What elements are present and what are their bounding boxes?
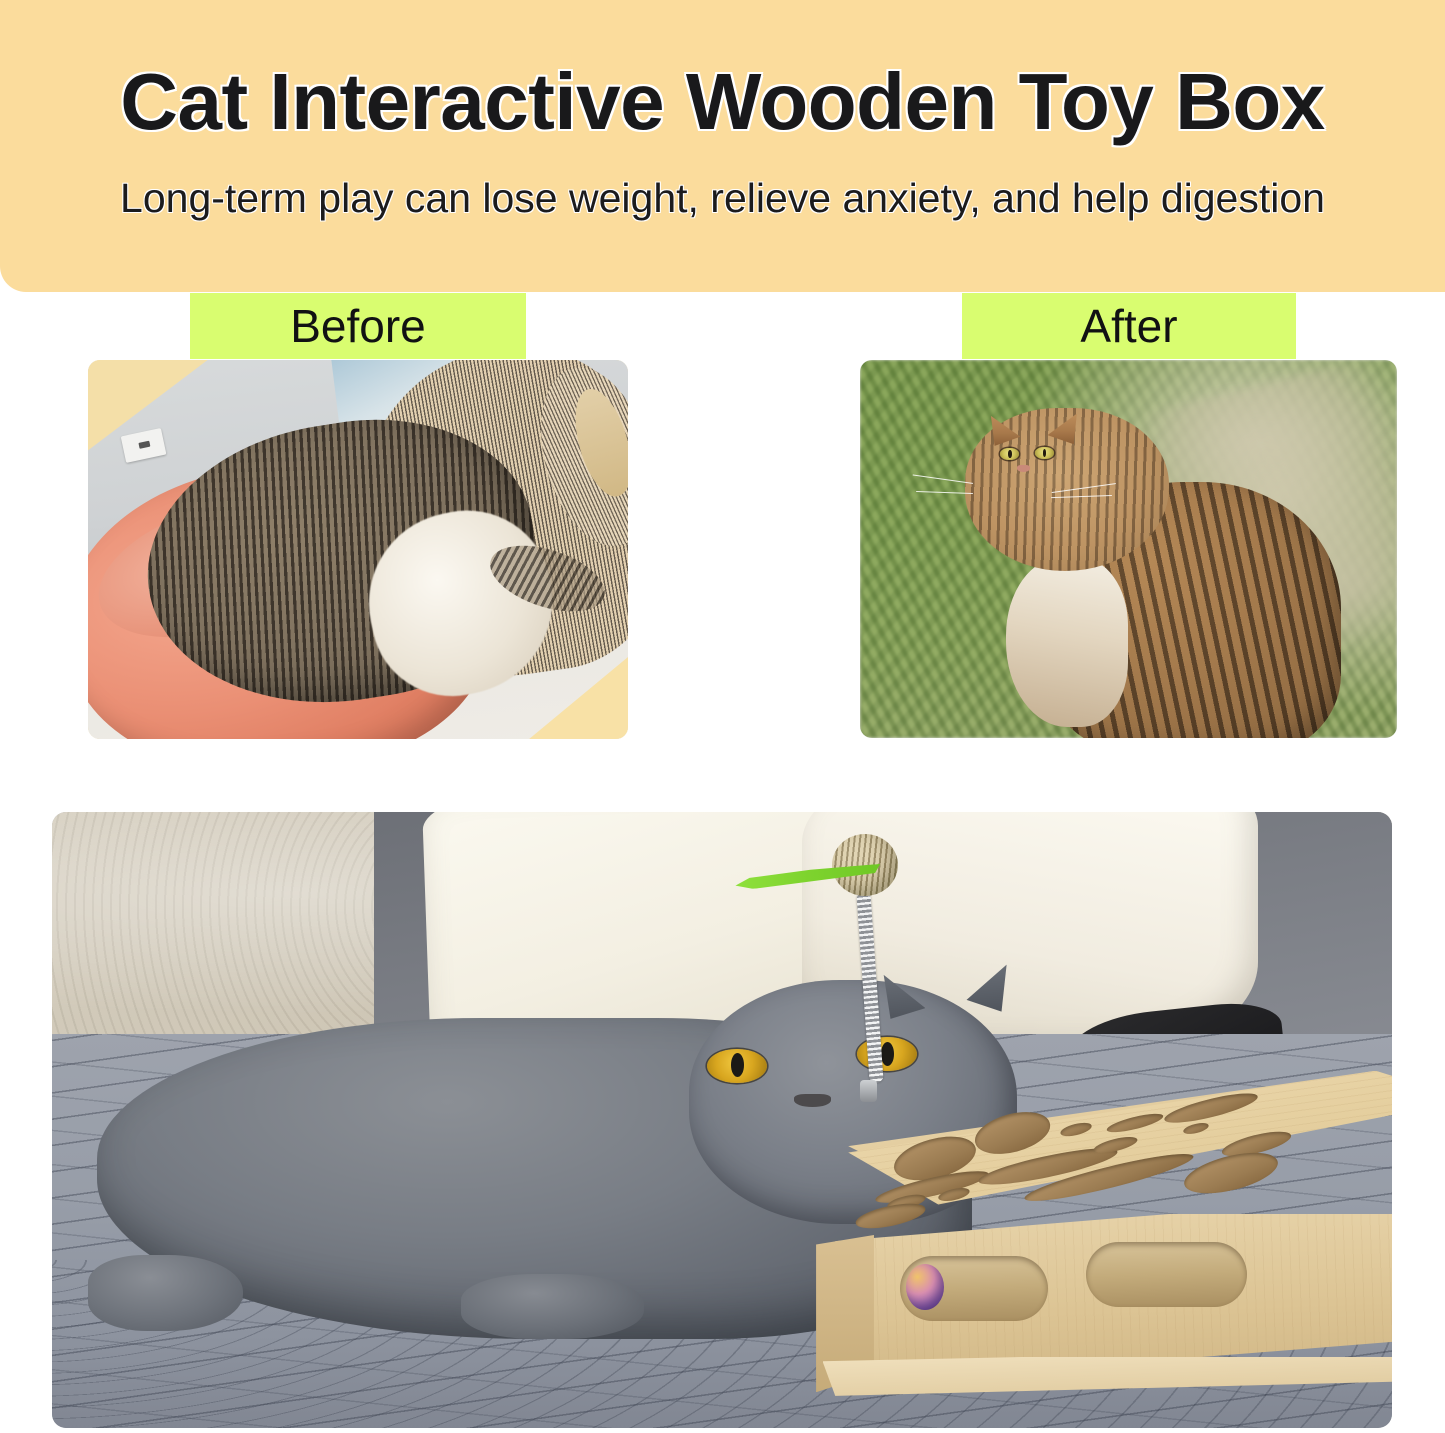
photo-after	[860, 360, 1397, 738]
cat-whisker	[1051, 495, 1112, 499]
cat-nose	[1017, 465, 1029, 472]
grey-cat-eye-left	[707, 1049, 767, 1083]
grey-cat-ear-left	[883, 970, 926, 1019]
toy-box-opening	[1086, 1242, 1247, 1306]
before-scene	[88, 360, 628, 739]
cat-chest	[1006, 557, 1128, 727]
hero-photo	[52, 812, 1392, 1428]
cat-eye-left	[1000, 448, 1019, 459]
grey-cat-pupil-left	[731, 1053, 744, 1077]
cat-whisker	[916, 491, 973, 494]
cat-pupil-right	[1043, 449, 1046, 457]
cat-ear-left	[990, 413, 1021, 446]
hero-scene	[52, 812, 1392, 1428]
after-scene	[860, 360, 1397, 738]
page-title: Cat Interactive Wooden Toy Box	[0, 60, 1445, 144]
toy-box-base	[823, 1357, 1393, 1396]
label-after: After	[962, 293, 1296, 359]
grey-cat-rear-paw	[461, 1274, 643, 1339]
product-infographic: Cat Interactive Wooden Toy Box Long-term…	[0, 0, 1445, 1433]
grey-cat-front-paw	[88, 1255, 243, 1331]
colorful-ball-inside	[906, 1264, 944, 1310]
cat-pupil-left	[1008, 450, 1011, 458]
cat-ear-right	[1047, 412, 1078, 445]
grey-cat-pupil-right	[881, 1042, 894, 1066]
cat-eye-right	[1035, 447, 1054, 458]
page-subtitle: Long-term play can lose weight, relieve …	[0, 176, 1445, 221]
wooden-toy-box	[823, 1071, 1393, 1428]
photo-before	[88, 360, 628, 739]
sisal-rope-ball	[832, 834, 898, 896]
slim-cat	[924, 371, 1332, 738]
header-band: Cat Interactive Wooden Toy Box Long-term…	[0, 0, 1445, 292]
cat-whisker	[1051, 483, 1116, 493]
label-before: Before	[190, 293, 526, 359]
